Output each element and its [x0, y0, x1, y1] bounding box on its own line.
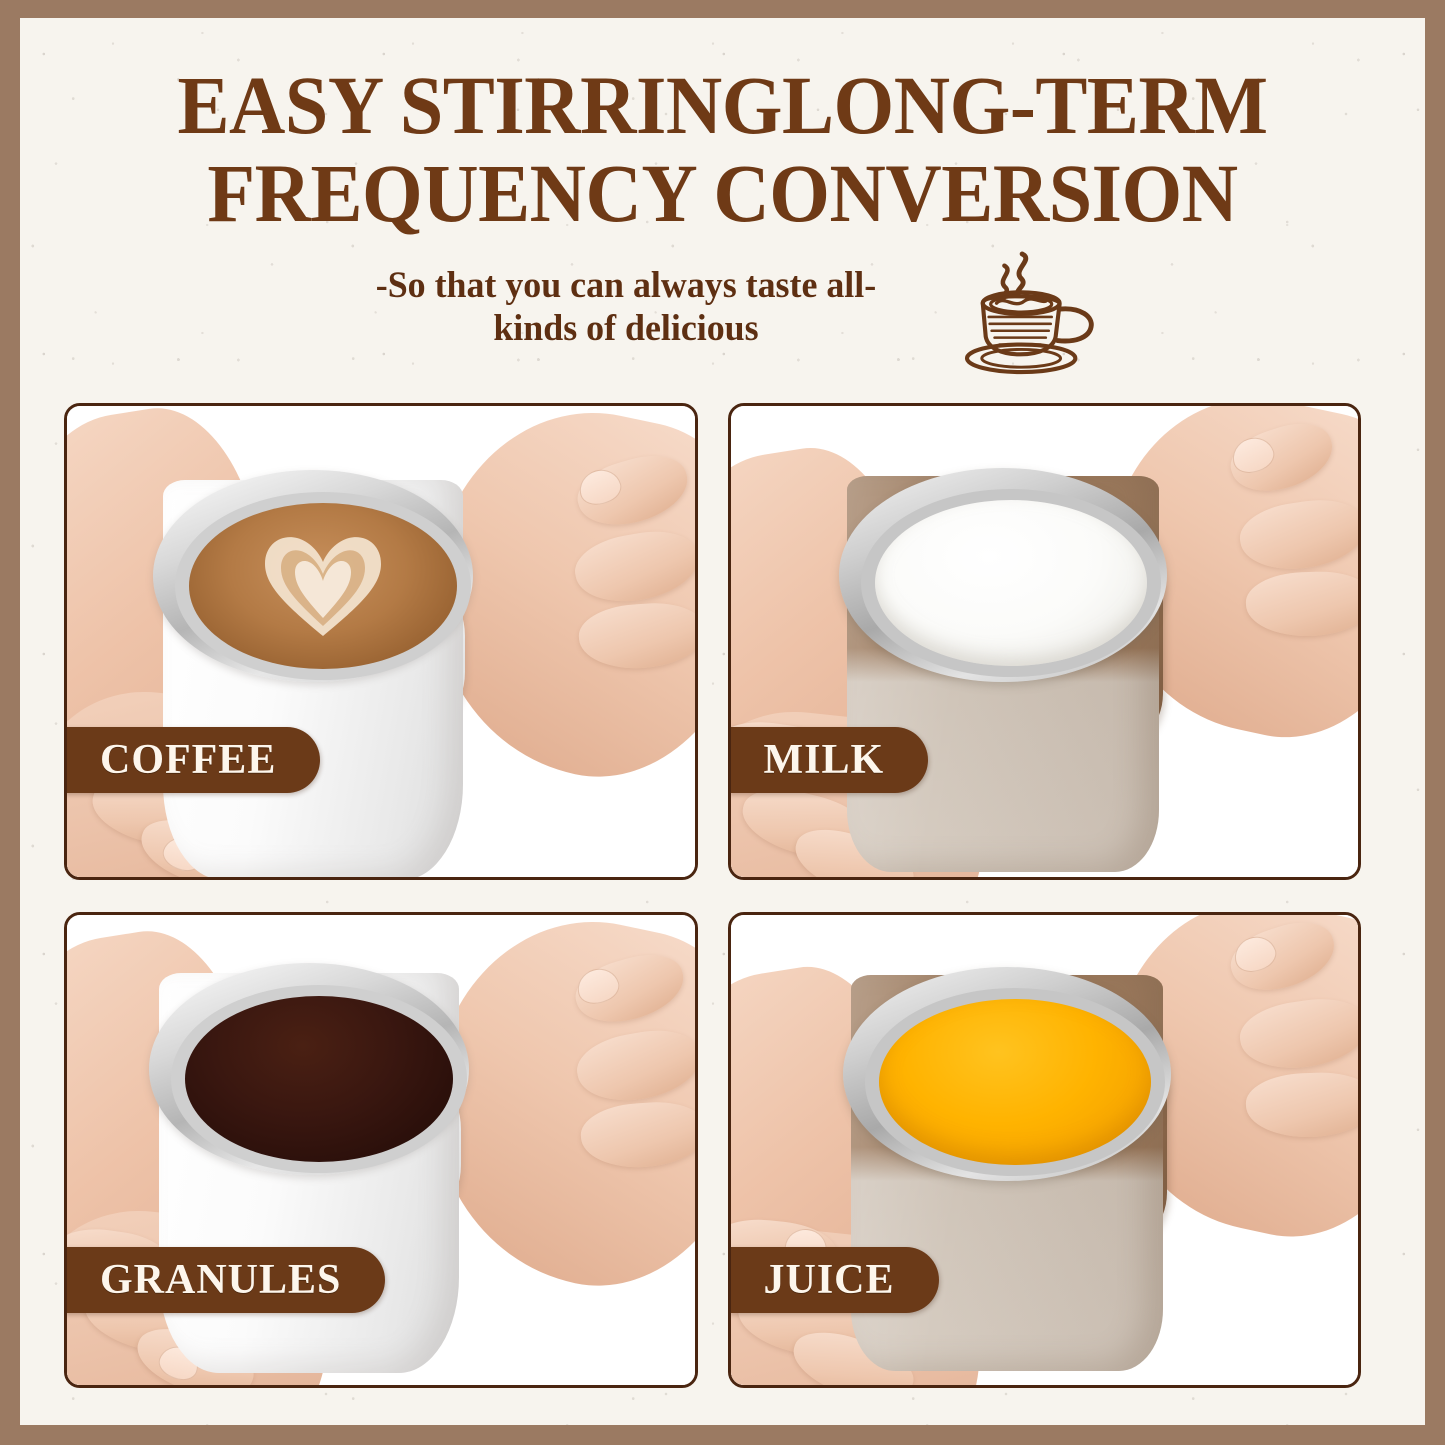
- status-badge-granules: GRANULES: [64, 1247, 385, 1313]
- badge-label: MILK: [764, 736, 885, 784]
- demo-card-granules[interactable]: GRANULES: [64, 912, 698, 1389]
- juice-surface: [879, 999, 1151, 1165]
- hands-holding-tumbler-icon: [731, 406, 1359, 877]
- hands-holding-mug-icon: [67, 915, 695, 1386]
- hands-holding-tumbler-icon: [731, 915, 1359, 1386]
- subtitle-row: -So that you can always taste all- kinds…: [66, 264, 1379, 378]
- product-infographic-poster: EASY STIRRINGLONG-TERM FREQUENCY CONVERS…: [0, 0, 1445, 1445]
- demo-card-milk[interactable]: MILK: [728, 403, 1362, 880]
- black-coffee-surface: [185, 996, 453, 1162]
- status-badge-juice: JUICE: [728, 1247, 939, 1313]
- title-line-1: EASY STIRRINGLONG-TERM: [105, 62, 1339, 150]
- demo-card-coffee[interactable]: COFFEE: [64, 403, 698, 880]
- subtitle-line-1: -So that you can always taste all-: [375, 264, 875, 307]
- poster-header: EASY STIRRINGLONG-TERM FREQUENCY CONVERS…: [20, 18, 1425, 378]
- product-demo-grid: COFFEE: [64, 403, 1361, 1388]
- poster-canvas: EASY STIRRINGLONG-TERM FREQUENCY CONVERS…: [20, 18, 1425, 1425]
- coffee-cup-icon: [949, 248, 1117, 378]
- demo-card-juice[interactable]: JUICE: [728, 912, 1362, 1389]
- badge-label: COFFEE: [100, 736, 276, 784]
- badge-label: JUICE: [764, 1256, 895, 1304]
- milk-surface: [875, 500, 1147, 666]
- badge-label: GRANULES: [100, 1256, 341, 1304]
- latte-art-heart-icon: [257, 522, 389, 640]
- latte-surface: [189, 503, 457, 669]
- subtitle-line-2: kinds of delicious: [375, 307, 875, 350]
- page-subtitle: -So that you can always taste all- kinds…: [375, 264, 875, 351]
- status-badge-coffee: COFFEE: [64, 727, 320, 793]
- status-badge-milk: MILK: [728, 727, 929, 793]
- page-title: EASY STIRRINGLONG-TERM FREQUENCY CONVERS…: [105, 62, 1339, 238]
- hands-holding-mug-icon: [67, 406, 695, 877]
- title-line-2: FREQUENCY CONVERSION: [105, 150, 1339, 238]
